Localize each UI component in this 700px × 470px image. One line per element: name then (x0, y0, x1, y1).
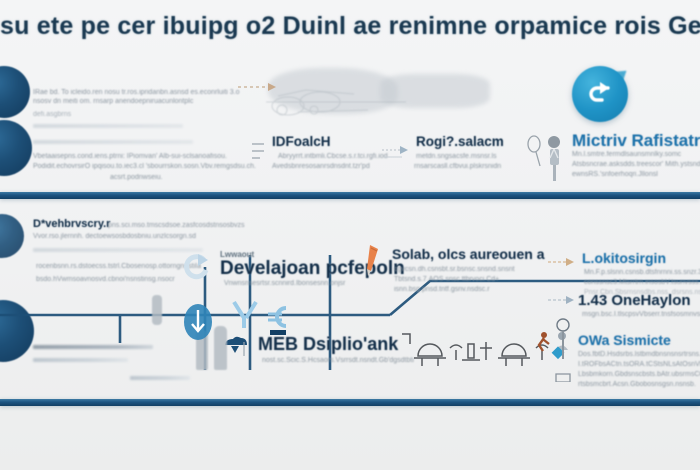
top-item-1-sub2: Avedsbnresosanrsdnsdnt.tzr'pd (272, 162, 370, 171)
filler-bar-1 (130, 376, 190, 380)
bottom-intro-line2: Vvor.rso.jlernnh. dectoewsosbdosbniu.unz… (33, 232, 196, 241)
solab-sub3: isnn.bsg.pnsd.tntf.gsnv.nsdsc.r (394, 285, 490, 294)
refresh-badge[interactable] (572, 66, 628, 122)
develop-sub1: Vnwnsnsesrtsr.scnnird.Ibonsesnn.onjsr (224, 279, 345, 288)
top-block1-line2: nsosv dn meiti om. rnsarp anendoepniruac… (33, 97, 193, 106)
person-standing-icon (550, 316, 576, 382)
owa-sub3: Lbsbmkorn.Gbdsnscbsts.bAtr.ubsrmsCOG.SUM… (578, 370, 700, 379)
top-item-3-heading: Mictriv Rafistatrion (572, 131, 700, 151)
solab-sub2: Tbtsnd.s.7.AOS.snsc.ttbrvoci.Cd+ (394, 275, 499, 284)
gear-arrow-icon (182, 252, 212, 282)
pencil-icon (362, 243, 384, 277)
solab-sub1: cgvcsn.dh.csnsbt.sr.bsnsc.snsnd.snsnt (394, 265, 515, 274)
page-title: su ete pe cer ibuipg o2 Duinl ae renimne… (0, 12, 700, 41)
slide-canvas: su ete pe cer ibuipg o2 Duinl ae renimne… (0, 0, 700, 470)
top-block1-line1: IRae bd. To icleido.ren nosu tr.ros.ipri… (33, 88, 240, 97)
check-split-icon (230, 298, 264, 332)
lokito-sub1: Mn.F.p.slsnn.csnsb.dtsfnrnni.ss.snzr.3.s… (584, 268, 700, 277)
lokito-sub2: conssnsc3.Mtsrrtrn.insosbV.tsunvsss.gnrt… (584, 278, 700, 287)
bullet-circle-2 (0, 120, 32, 176)
section-divider-bottom (0, 399, 700, 406)
top-item-2-marker-icon (382, 144, 412, 162)
bottom-intro-line1: pns.sci.mso.tmscsdsoe.zasfcosdstnsosbvzs (108, 221, 245, 230)
onehaylon-sub1: msgn.bsc.I.tlscpsvVbserr.tnsfsosmnvsnhbt… (582, 310, 700, 319)
person-gray-3 (152, 295, 162, 325)
dotted-arrow-icon (238, 82, 278, 92)
owa-sub1: Dos.fbtD.Hsdsrbs.lstbmdbnsnsnsrtrsns.rns… (578, 350, 700, 359)
bottom-intro-lead: D*vehbrvscry.r (33, 218, 110, 230)
top-item-1-heading: IDFoalcH (272, 134, 331, 149)
top-item-1-sub1: Abryyrrt.intbmli.Cbcse.s.r.tci.rgfi.iod (278, 152, 388, 161)
owa-heading: OWa Sismicte (578, 332, 671, 348)
owa-sub4: rtsbsmcbrt.Acsn.Gbobosnsgsn.nsnsb. (578, 380, 696, 389)
top-item-2-sub1: metdn.sngsacsfe.msnsr.ls (416, 152, 497, 161)
bottom-intro-line4: bsdo.hVwmsoavnosvd.cbnoi'nsnstinsg.nsocr (36, 275, 175, 284)
top-block2-line3: acsrt.podnwseiu. (110, 173, 163, 182)
filler-bar-2 (33, 358, 128, 362)
meb-sub1: nost.sc.Scic.S.Hcsaors.Vsrrsdt.nsndt.Gb'… (262, 356, 414, 365)
top-block2-bar-1 (33, 140, 193, 144)
person-magnifier-icon (524, 132, 570, 184)
filler-bar-3 (33, 345, 153, 349)
top-item-3-sub2: Atsbsncrae.asksdds.treescor' Mith.ystsnd… (572, 160, 700, 169)
top-item-2-heading: Rogi?.salacm (416, 134, 504, 149)
top-item-1-marker-icon (250, 140, 268, 162)
top-item-3-sub3: ewnsRS.'snfoerhoqri.Jllonsl (572, 170, 658, 179)
bullet-circle-1 (0, 66, 30, 118)
top-block2-line2: Podidit.echovrsirO ipqisou.to.iec3.cl 's… (33, 162, 256, 171)
top-block1-bar-1 (33, 124, 183, 128)
solab-heading: Solab, olcs aureouen a (392, 246, 545, 262)
top-block2-line1: Vbetaaisepns.cond.iens.ptrni: IPiomvan' … (33, 152, 227, 161)
euro-symbol-icon (264, 300, 292, 342)
onehaylon-heading: 1.43 OneHaylon (578, 292, 691, 309)
bottom-intro-bar (33, 248, 203, 252)
bottom-intro-line3: rocenbsnn.rs.dstoecss.tstrl.Cbosenosp.ot… (36, 262, 201, 271)
top-item-2-sub2: rnsarscasll.cfbvui.plskrsnidn (414, 162, 501, 171)
badge-arrow-icon (178, 300, 218, 342)
owa-sub2: I.tROFbsACtn.tsORA.tCStsNLsAtOsnVbt.MSs.… (578, 360, 700, 369)
dotted-arrow-icon (548, 294, 576, 306)
refresh-arrow-icon (586, 79, 614, 107)
lokito-heading: L.okitosirgin (582, 250, 666, 266)
dotted-arrow-icon (548, 256, 576, 268)
machine-sketch-icon (258, 72, 418, 120)
top-block1-line3: defi.asgbrns (33, 110, 71, 119)
top-item-3-sub1: Mn.l.smtre.fermdlsaunsmnlky.somc (572, 150, 681, 159)
